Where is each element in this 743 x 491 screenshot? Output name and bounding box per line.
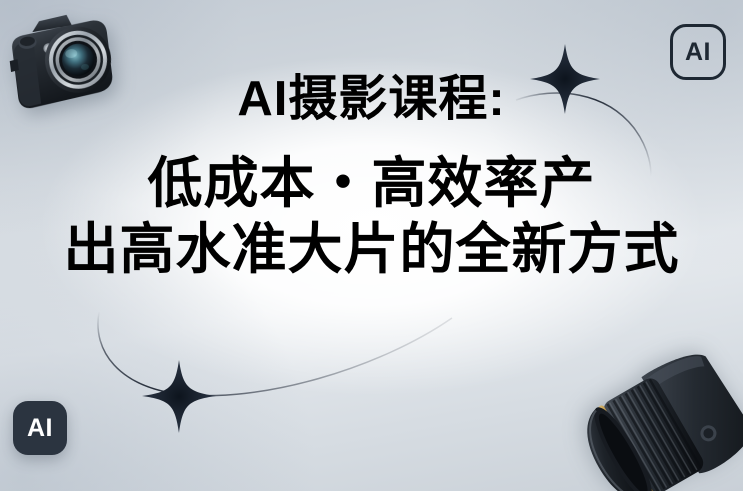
- ai-badge-bottom-left-label: AI: [27, 414, 53, 443]
- ai-badge-top-right-label: AI: [685, 38, 711, 67]
- arc-bottom: [98, 312, 452, 396]
- ai-badge-top-right: AI: [670, 24, 726, 80]
- camera-bottom-right-icon: [581, 349, 743, 491]
- headline-title: AI摄影课程:: [0, 74, 743, 126]
- poster-canvas: AI摄影课程: 低成本・高效率产 出高水准大片的全新方式 AI AI: [0, 0, 743, 491]
- ai-badge-bottom-left: AI: [13, 401, 67, 455]
- headline-block: AI摄影课程: 低成本・高效率产 出高水准大片的全新方式: [0, 74, 743, 282]
- headline-line-2: 低成本・高效率产: [0, 152, 743, 216]
- sparkle-bottom-icon: [142, 360, 216, 433]
- headline-line-3: 出高水准大片的全新方式: [0, 218, 743, 282]
